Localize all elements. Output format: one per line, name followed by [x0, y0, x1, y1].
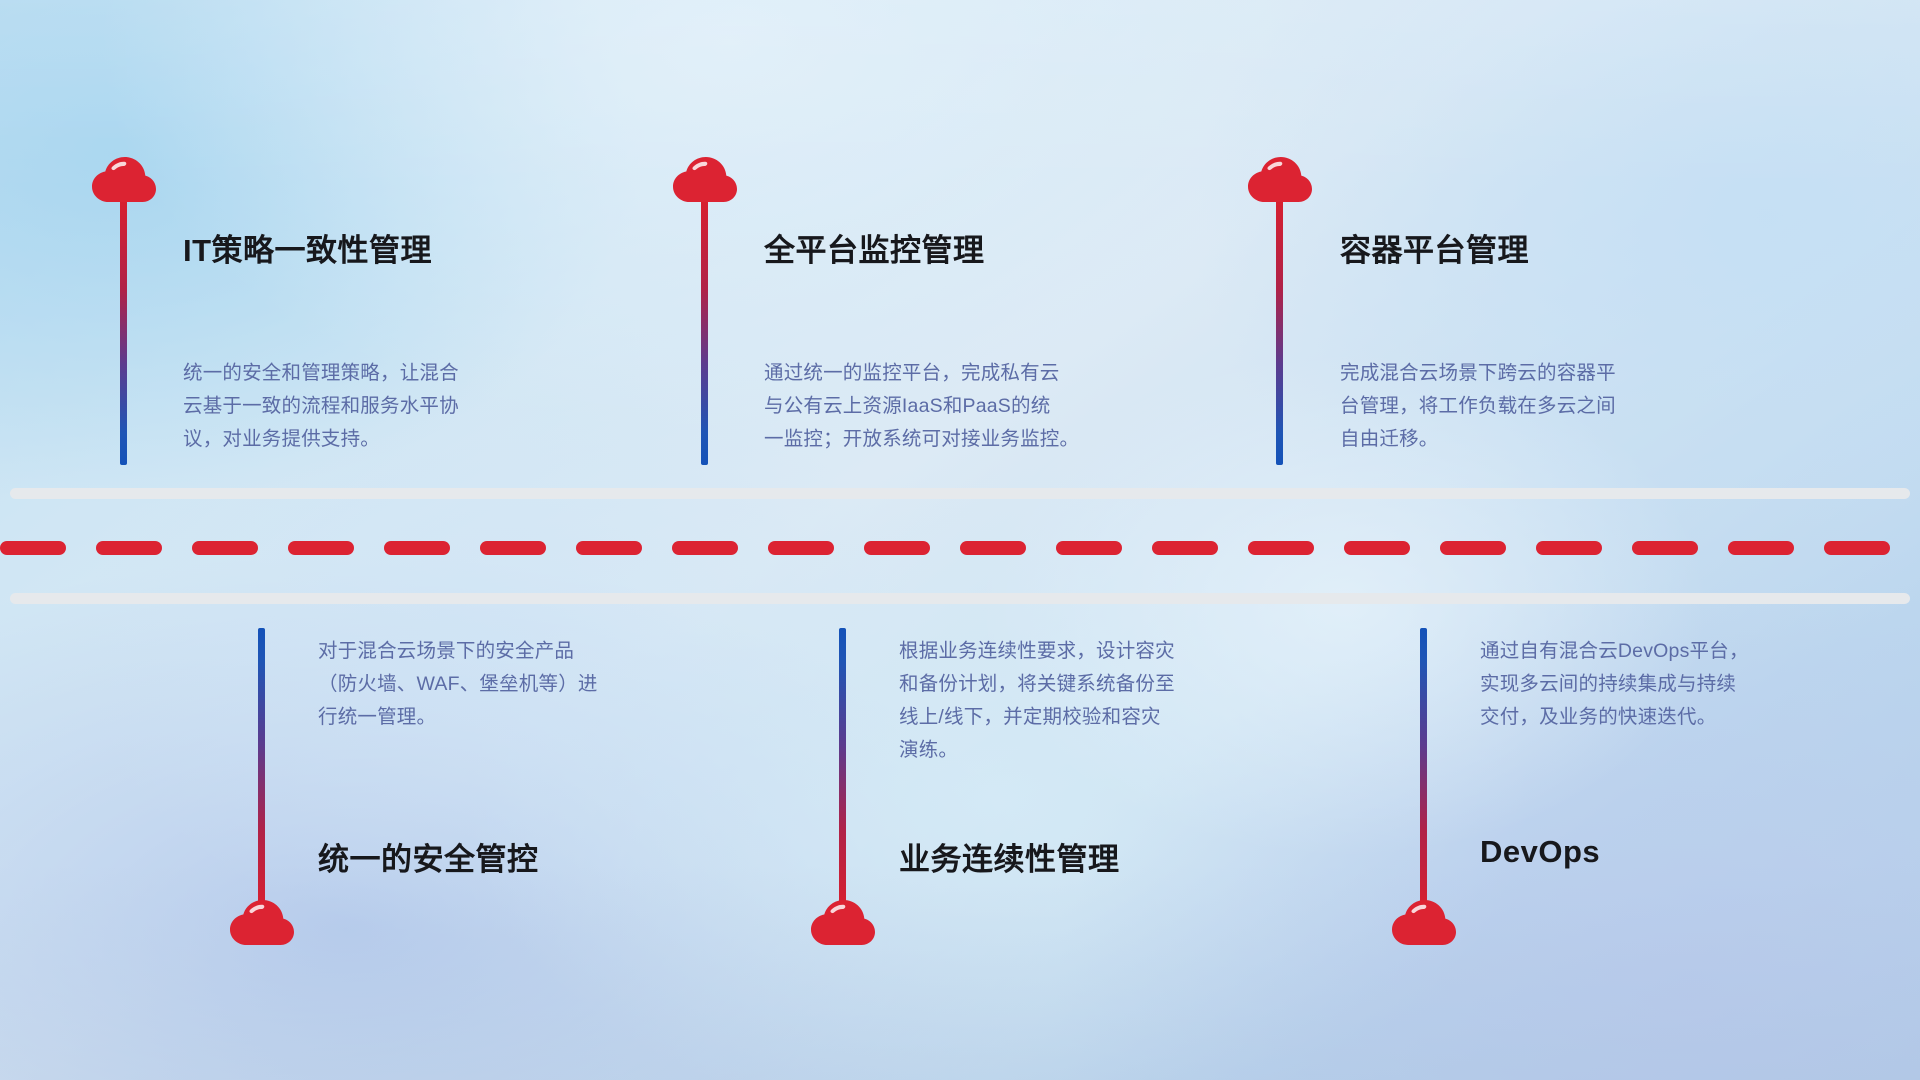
desc-line: 完成混合云场景下跨云的容器平 — [1340, 357, 1616, 390]
cloud-icon — [1392, 900, 1456, 946]
cloud-icon — [92, 157, 156, 203]
road-dashed-centerline — [0, 541, 1920, 555]
desc-line: 行统一管理。 — [318, 701, 598, 734]
desc-line: 统一的安全和管理策略，让混合 — [183, 357, 459, 390]
top-item-1-title: IT策略一致性管理 — [183, 225, 432, 270]
connector-line — [258, 628, 265, 908]
road-dash — [192, 541, 258, 555]
top-item-1-description: 统一的安全和管理策略，让混合 云基于一致的流程和服务水平协 议，对业务提供支持。 — [183, 357, 459, 456]
desc-line: 自由迁移。 — [1340, 423, 1616, 456]
connector-line — [701, 199, 708, 465]
desc-line: 交付，及业务的快速迭代。 — [1480, 701, 1749, 734]
road-divider — [0, 488, 1920, 608]
road-dash — [1632, 541, 1698, 555]
desc-line: 一监控；开放系统可对接业务监控。 — [764, 423, 1079, 456]
desc-line: 通过统一的监控平台，完成私有云 — [764, 357, 1079, 390]
bottom-item-2-description: 根据业务连续性要求，设计容灾 和备份计划，将关键系统备份至 线上/线下，并定期校… — [899, 635, 1175, 767]
road-dash — [1344, 541, 1410, 555]
connector-line — [1420, 628, 1427, 908]
desc-line: 和备份计划，将关键系统备份至 — [899, 668, 1175, 701]
road-dash — [0, 541, 66, 555]
road-dash — [672, 541, 738, 555]
road-dash — [1440, 541, 1506, 555]
road-dash — [960, 541, 1026, 555]
connector-line — [120, 199, 127, 465]
road-dash — [1728, 541, 1794, 555]
desc-line: 台管理，将工作负载在多云之间 — [1340, 390, 1616, 423]
road-dash — [768, 541, 834, 555]
road-dash — [864, 541, 930, 555]
road-line-upper — [10, 488, 1910, 499]
bottom-item-2-title: 业务连续性管理 — [899, 834, 1120, 879]
desc-line: 议，对业务提供支持。 — [183, 423, 459, 456]
bottom-item-1-title: 统一的安全管控 — [318, 834, 539, 879]
desc-line: 演练。 — [899, 734, 1175, 767]
desc-line: 与公有云上资源IaaS和PaaS的统 — [764, 390, 1079, 423]
bottom-item-1-description: 对于混合云场景下的安全产品 （防火墙、WAF、堡垒机等）进 行统一管理。 — [318, 635, 598, 734]
connector-line — [1276, 199, 1283, 465]
cloud-icon — [811, 900, 875, 946]
top-item-2-description: 通过统一的监控平台，完成私有云 与公有云上资源IaaS和PaaS的统 一监控；开… — [764, 357, 1079, 456]
desc-line: 根据业务连续性要求，设计容灾 — [899, 635, 1175, 668]
road-dash — [288, 541, 354, 555]
road-dash — [480, 541, 546, 555]
road-dash — [1536, 541, 1602, 555]
top-item-2-title: 全平台监控管理 — [764, 225, 985, 270]
cloud-icon — [673, 157, 737, 203]
desc-line: 对于混合云场景下的安全产品 — [318, 635, 598, 668]
road-dash — [1824, 541, 1890, 555]
top-item-3-title: 容器平台管理 — [1340, 225, 1529, 270]
desc-line: 线上/线下，并定期校验和容灾 — [899, 701, 1175, 734]
cloud-icon — [230, 900, 294, 946]
top-item-3-description: 完成混合云场景下跨云的容器平 台管理，将工作负载在多云之间 自由迁移。 — [1340, 357, 1616, 456]
road-dash — [1056, 541, 1122, 555]
connector-line — [839, 628, 846, 908]
road-dash — [96, 541, 162, 555]
road-dash — [1248, 541, 1314, 555]
desc-line: 云基于一致的流程和服务水平协 — [183, 390, 459, 423]
road-dash — [576, 541, 642, 555]
bottom-item-3-description: 通过自有混合云DevOps平台， 实现多云间的持续集成与持续 交付，及业务的快速… — [1480, 635, 1749, 734]
cloud-icon — [1248, 157, 1312, 203]
desc-line: 通过自有混合云DevOps平台， — [1480, 635, 1749, 668]
road-dash — [1152, 541, 1218, 555]
road-dash — [384, 541, 450, 555]
bottom-item-3-title: DevOps — [1480, 834, 1600, 870]
road-line-lower — [10, 593, 1910, 604]
desc-line: （防火墙、WAF、堡垒机等）进 — [318, 668, 598, 701]
desc-line: 实现多云间的持续集成与持续 — [1480, 668, 1749, 701]
